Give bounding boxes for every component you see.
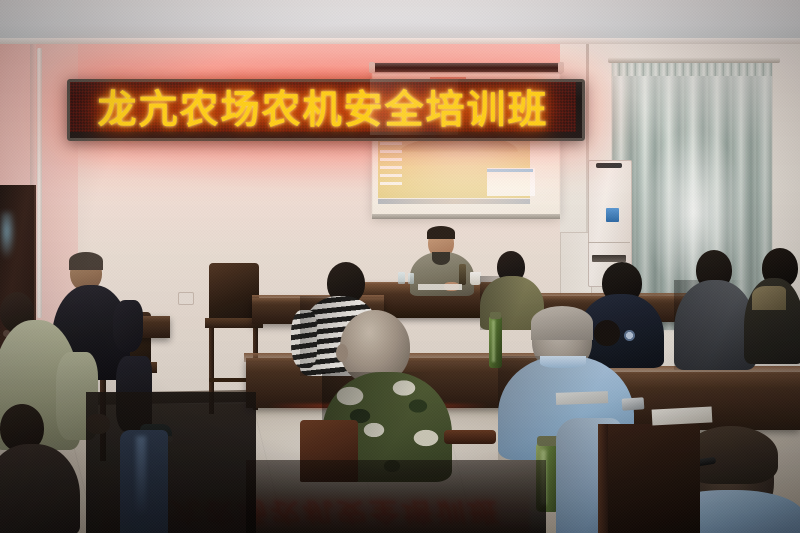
screen-housing-bracket-right xyxy=(558,62,564,73)
attendee-camo-ear xyxy=(336,344,348,362)
water-bottle xyxy=(459,264,466,285)
attendee-uniform-shoulder-accent xyxy=(752,286,786,310)
drinking-glass-2 xyxy=(408,273,414,284)
tea-bottle-highlight xyxy=(492,320,495,362)
chair-armrest xyxy=(444,430,496,444)
led-banner-text: 龙亢农场农机安全培训班 xyxy=(70,82,576,132)
phone-on-desk xyxy=(622,397,645,411)
tea-bottle-cap xyxy=(490,312,501,319)
attendee-blue-hair xyxy=(531,306,593,340)
ceiling xyxy=(0,0,800,42)
air-conditioner-lower-vent xyxy=(592,255,626,262)
attendee-blue-collar xyxy=(540,356,586,368)
air-conditioner-label-icon xyxy=(606,208,619,222)
drinking-glass xyxy=(398,272,405,284)
handout-paper-presenter xyxy=(418,284,462,290)
slide-blue-rule xyxy=(487,169,533,172)
slide-text-block xyxy=(380,142,402,190)
notebook xyxy=(652,406,713,425)
tea-bottle xyxy=(489,316,502,368)
attendee-left-dark-arm xyxy=(113,300,143,352)
wall-conduit-pipe xyxy=(37,48,42,318)
foreground-desk-shadow xyxy=(246,460,546,533)
slide-footer-bar xyxy=(378,199,530,204)
desk-paper-right xyxy=(556,391,608,405)
projection-screen-housing xyxy=(372,63,562,72)
foreground-dark-mass-left xyxy=(86,392,256,533)
air-conditioner-top-vent xyxy=(596,163,622,168)
projection-screen-weight-bar xyxy=(372,214,560,219)
attendee-left-dark-hair xyxy=(69,252,103,270)
door-glass-glint xyxy=(1,212,15,260)
attendee-navy-logo-icon xyxy=(624,330,635,341)
air-conditioner-panel-seam xyxy=(588,242,630,243)
chair-back-reader[interactable] xyxy=(600,424,700,533)
chair-back-reader-edge xyxy=(598,424,608,533)
attendee-back-right-head xyxy=(594,320,620,346)
screen-housing-bracket-left xyxy=(369,62,375,73)
presenter-collar xyxy=(432,252,450,265)
training-room-photo: 龙亢农场农机安全培训班 龙亢农场农机安全培训班 xyxy=(0,0,800,533)
presenter-hair xyxy=(427,226,455,239)
wall-outlet-left xyxy=(178,292,194,305)
curtain-rod xyxy=(608,57,780,63)
jeans-highlight xyxy=(136,436,146,516)
slide-white-panel xyxy=(487,168,535,196)
